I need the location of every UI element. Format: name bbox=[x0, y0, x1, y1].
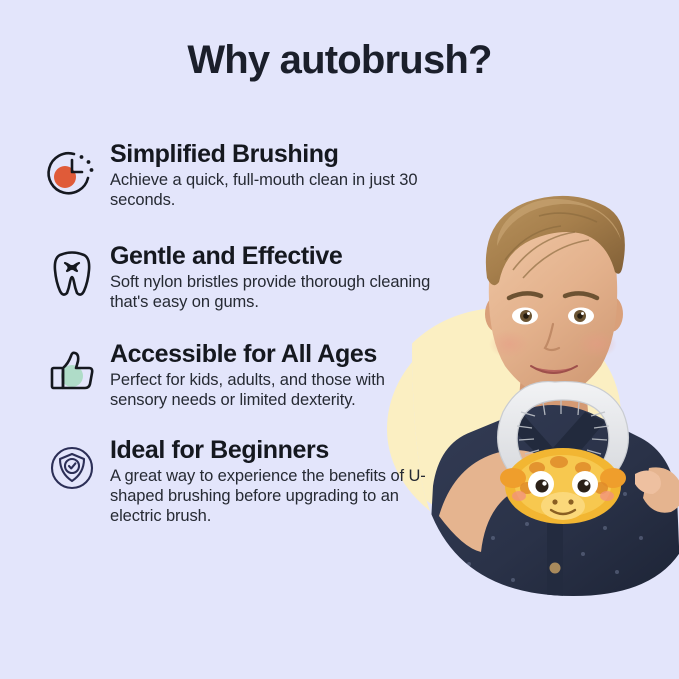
feature-item-gentle-and-effective: Gentle and Effective Soft nylon bristles… bbox=[44, 242, 434, 334]
feature-item-simplified-brushing: Simplified Brushing Achieve a quick, ful… bbox=[44, 140, 434, 236]
feature-item-accessible-for-all-ages: Accessible for All Ages Perfect for kids… bbox=[44, 340, 434, 430]
tooth-sparkle-icon bbox=[44, 246, 100, 302]
feature-list: Simplified Brushing Achieve a quick, ful… bbox=[44, 140, 434, 538]
feature-title: Accessible for All Ages bbox=[110, 340, 434, 368]
shield-check-icon bbox=[44, 440, 100, 496]
feature-description: Achieve a quick, full-mouth clean in jus… bbox=[110, 170, 434, 210]
thumbs-up-icon bbox=[44, 344, 100, 400]
feature-description: Soft nylon bristles provide thorough cle… bbox=[110, 272, 434, 312]
feature-title: Gentle and Effective bbox=[110, 242, 434, 270]
feature-item-ideal-for-beginners: Ideal for Beginners A great way to exper… bbox=[44, 436, 434, 532]
timer-clock-icon bbox=[44, 144, 100, 200]
feature-description: A great way to experience the benefits o… bbox=[110, 466, 434, 526]
feature-description: Perfect for kids, adults, and those with… bbox=[110, 370, 434, 410]
promo-panel: Why autobrush? bbox=[0, 0, 679, 679]
page-title: Why autobrush? bbox=[0, 38, 679, 83]
feature-title: Simplified Brushing bbox=[110, 140, 434, 168]
boy-holding-toothbrush-photo bbox=[409, 186, 679, 596]
feature-title: Ideal for Beginners bbox=[110, 436, 434, 464]
